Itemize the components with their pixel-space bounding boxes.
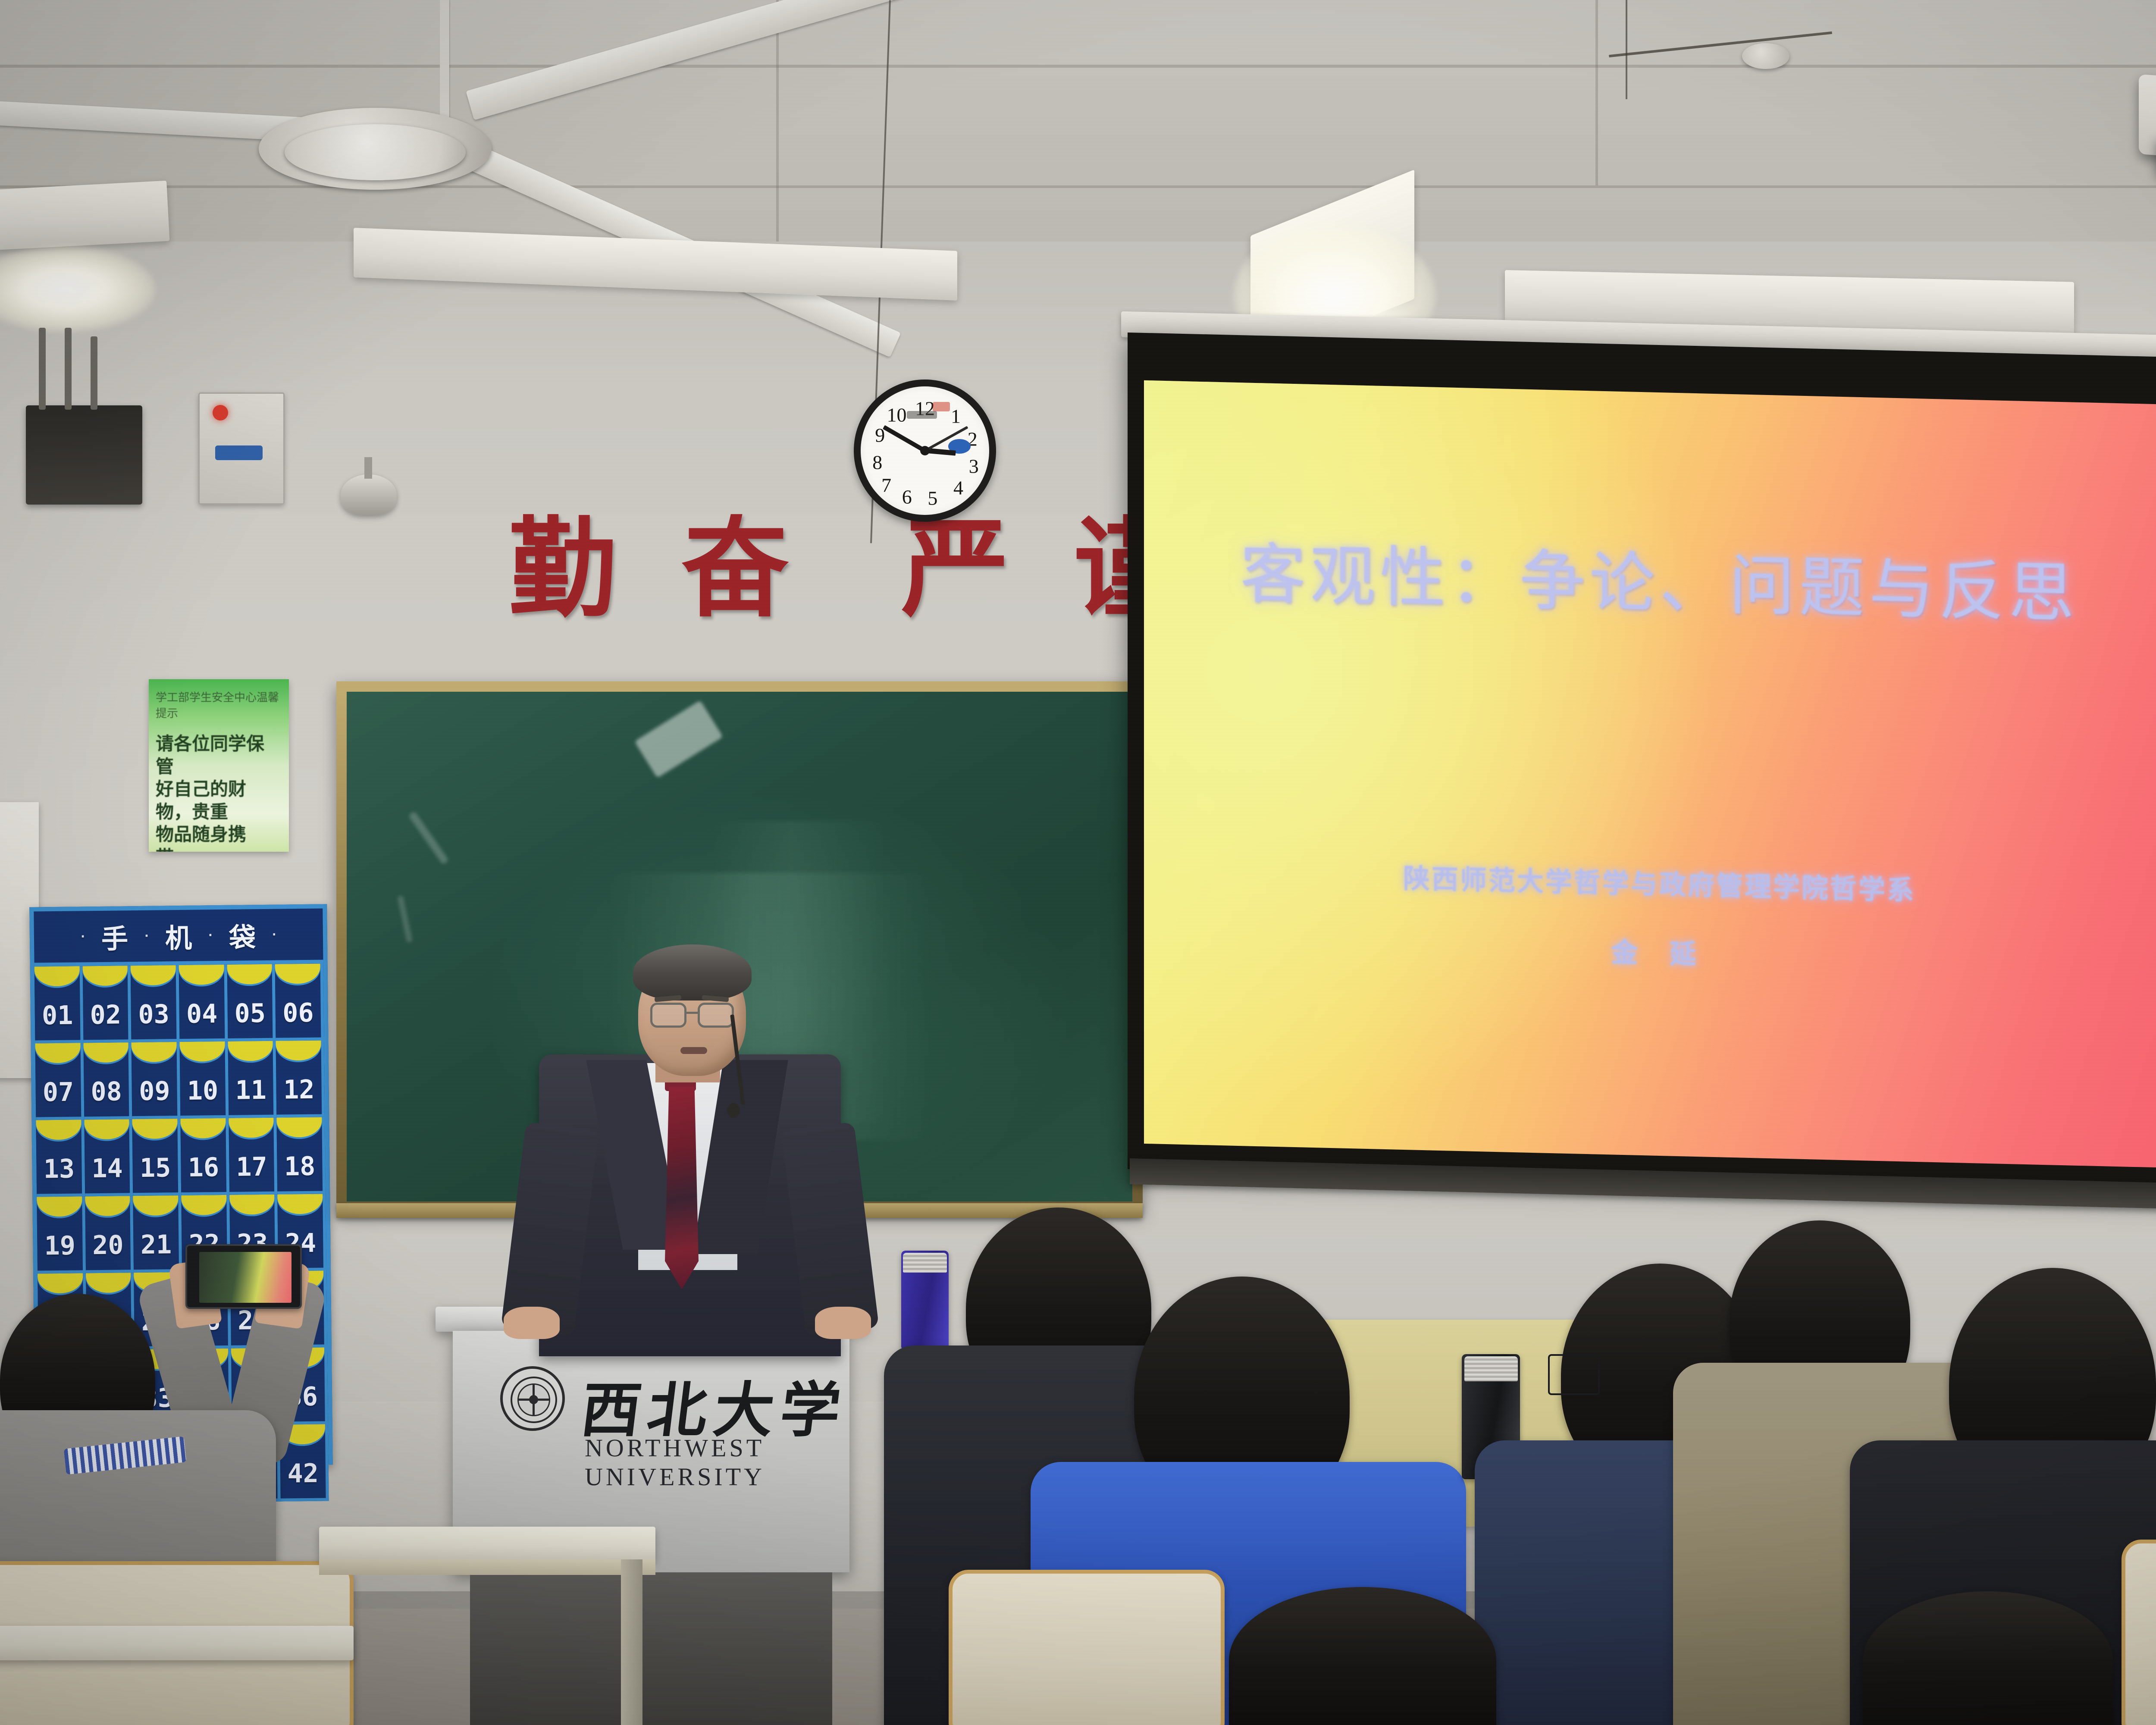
presenter-hair (633, 944, 752, 1000)
photographer-phone[interactable] (185, 1244, 302, 1309)
projection-screen-frame: 客观性：争论、问题与反思 陕西师范大学哲学与政府管理学院哲学系 金 延 (1128, 332, 2156, 1194)
clock-numeral: 10 (887, 403, 906, 426)
indicator-light (213, 405, 228, 420)
hanging-wire (1626, 0, 1627, 99)
phone-pocket[interactable]: 09 (132, 1042, 181, 1119)
phone-pocket[interactable]: 07 (35, 1043, 85, 1120)
poster-body-line: 物品随身携带。 (156, 823, 282, 852)
phone-pocket[interactable]: 12 (276, 1041, 325, 1118)
speaker-bracket (91, 336, 97, 410)
poster-body-line: 请各位同学保管 (156, 733, 282, 778)
slide-presenter-name: 金 延 (1144, 919, 2156, 982)
slogan-char-1: 勤 (509, 515, 617, 623)
title-separator: · (81, 930, 85, 943)
audience-head-front (1863, 1591, 2113, 1725)
phone-screen (199, 1252, 291, 1303)
wall-speaker (26, 405, 142, 505)
ceiling-seam (1595, 0, 1598, 185)
audience-head-front (1229, 1587, 1496, 1725)
headset-mic-capsule (727, 1103, 740, 1118)
university-seal (500, 1366, 565, 1431)
title-char-3: 袋 (229, 916, 256, 955)
poster-header: 学工部学生安全中心温馨提示 (156, 689, 282, 721)
ceiling-seam (0, 185, 2156, 188)
presenter-hand-right (815, 1307, 871, 1339)
clock-brand-text (907, 411, 937, 419)
auditorium-seat[interactable] (2122, 1540, 2156, 1725)
phone-pocket[interactable]: 20 (85, 1196, 134, 1273)
student-desk (0, 1626, 354, 1660)
clock-numeral: 8 (872, 451, 882, 474)
ceiling-seam (0, 65, 2156, 68)
ceiling-fitting (1742, 43, 1789, 69)
thermos-cap (903, 1253, 947, 1273)
thermos-cap (1464, 1356, 1518, 1381)
presenter-mouth (680, 1047, 707, 1054)
title-separator: · (272, 928, 276, 941)
clock-center-pin (920, 446, 930, 455)
presenter-tie (665, 1087, 699, 1289)
clock-numeral: 4 (953, 477, 963, 499)
clock-numeral: 6 (902, 486, 912, 508)
phone-pocket[interactable]: 03 (131, 965, 180, 1042)
title-char-1: 手 (101, 917, 128, 956)
clock-minute-hand (883, 425, 926, 453)
clock-brand-mark (933, 402, 950, 411)
auditorium-seat[interactable] (949, 1570, 1225, 1725)
clock-numeral: 5 (928, 487, 937, 510)
camera-mount (364, 457, 372, 479)
presenter-glasses-left-lens (650, 1003, 686, 1028)
fan-hub-cap (285, 124, 466, 180)
phone-pocket[interactable]: 02 (82, 966, 132, 1043)
phone-pocket[interactable]: 01 (34, 966, 84, 1043)
presenter-glasses-bridge (686, 1012, 698, 1014)
clock-numeral: 3 (969, 455, 979, 477)
phone-organizer-title: · 手 · 机 · 袋 · (34, 909, 323, 967)
wall-control-box[interactable] (198, 392, 285, 505)
clock-numeral: 7 (881, 474, 891, 497)
title-separator: · (144, 929, 149, 942)
chalk-smudge (408, 811, 449, 865)
desk-leg (621, 1559, 642, 1725)
phone-pocket[interactable]: 04 (179, 965, 228, 1042)
phone-pocket[interactable]: 08 (83, 1042, 132, 1120)
phone-pocket[interactable]: 14 (84, 1119, 133, 1196)
phone-pocket[interactable]: 13 (36, 1120, 85, 1197)
wall-clock: 12 1 2 3 4 5 6 7 8 9 10 (854, 379, 996, 522)
podium-university-en: NORTHWEST UNIVERSITY (585, 1433, 849, 1491)
phone-pocket[interactable]: 15 (132, 1119, 182, 1196)
light-fixture (0, 181, 169, 251)
projection-screen-surface: 客观性：争论、问题与反思 陕西师范大学哲学与政府管理学院哲学系 金 延 (1144, 380, 2156, 1168)
phone-pocket[interactable]: 21 (133, 1195, 182, 1273)
phone-pocket[interactable]: 19 (37, 1196, 86, 1273)
security-camera (341, 474, 397, 515)
phone-pocket[interactable]: 16 (180, 1118, 229, 1195)
slogan-char-2: 奋 (681, 515, 789, 623)
speaker-bracket (65, 328, 72, 410)
desk-edge (319, 1559, 655, 1575)
box-label (215, 445, 263, 460)
student-desk (319, 1527, 655, 1561)
speaker-bracket (39, 328, 46, 410)
fan-rod (440, 0, 449, 129)
phone-pocket[interactable]: 17 (229, 1118, 278, 1195)
clock-numeral: 1 (951, 405, 961, 427)
slide-title: 客观性：争论、问题与反思 (1144, 518, 2156, 637)
chalk-smudge (397, 895, 413, 943)
phone-pocket[interactable]: 18 (277, 1117, 326, 1195)
ceiling-seam (776, 0, 779, 241)
seal-center (529, 1395, 538, 1404)
title-separator: · (208, 929, 213, 942)
chalk-smudge (634, 700, 723, 778)
phone-pocket[interactable]: 06 (275, 964, 324, 1041)
podium-base (470, 1572, 832, 1725)
slide-affiliation: 陕西师范大学哲学与政府管理学院哲学系 (1144, 850, 2156, 913)
phone-pocket[interactable]: 10 (179, 1041, 229, 1119)
notice-poster: 学工部学生安全中心温馨提示 请各位同学保管 好自己的财物，贵重 物品随身携带。 … (149, 679, 289, 852)
audience-glasses (1548, 1354, 1600, 1395)
phone-pocket[interactable]: 05 (227, 964, 276, 1041)
classroom-photo: 勤 奋 严 谨 12 1 2 3 4 5 6 7 8 9 10 学工部学生安全中… (0, 0, 2156, 1725)
wall-slogan: 勤 奋 严 谨 (509, 515, 1181, 623)
presenter-glasses-right-lens (698, 1003, 734, 1028)
phone-pocket[interactable]: 11 (228, 1041, 277, 1118)
slogan-char-3: 严 (901, 515, 1009, 623)
poster-body-line: 好自己的财物，贵重 (156, 778, 282, 823)
presenter-hand-left (504, 1307, 560, 1339)
title-char-2: 机 (165, 916, 192, 955)
presenter (496, 940, 884, 1350)
